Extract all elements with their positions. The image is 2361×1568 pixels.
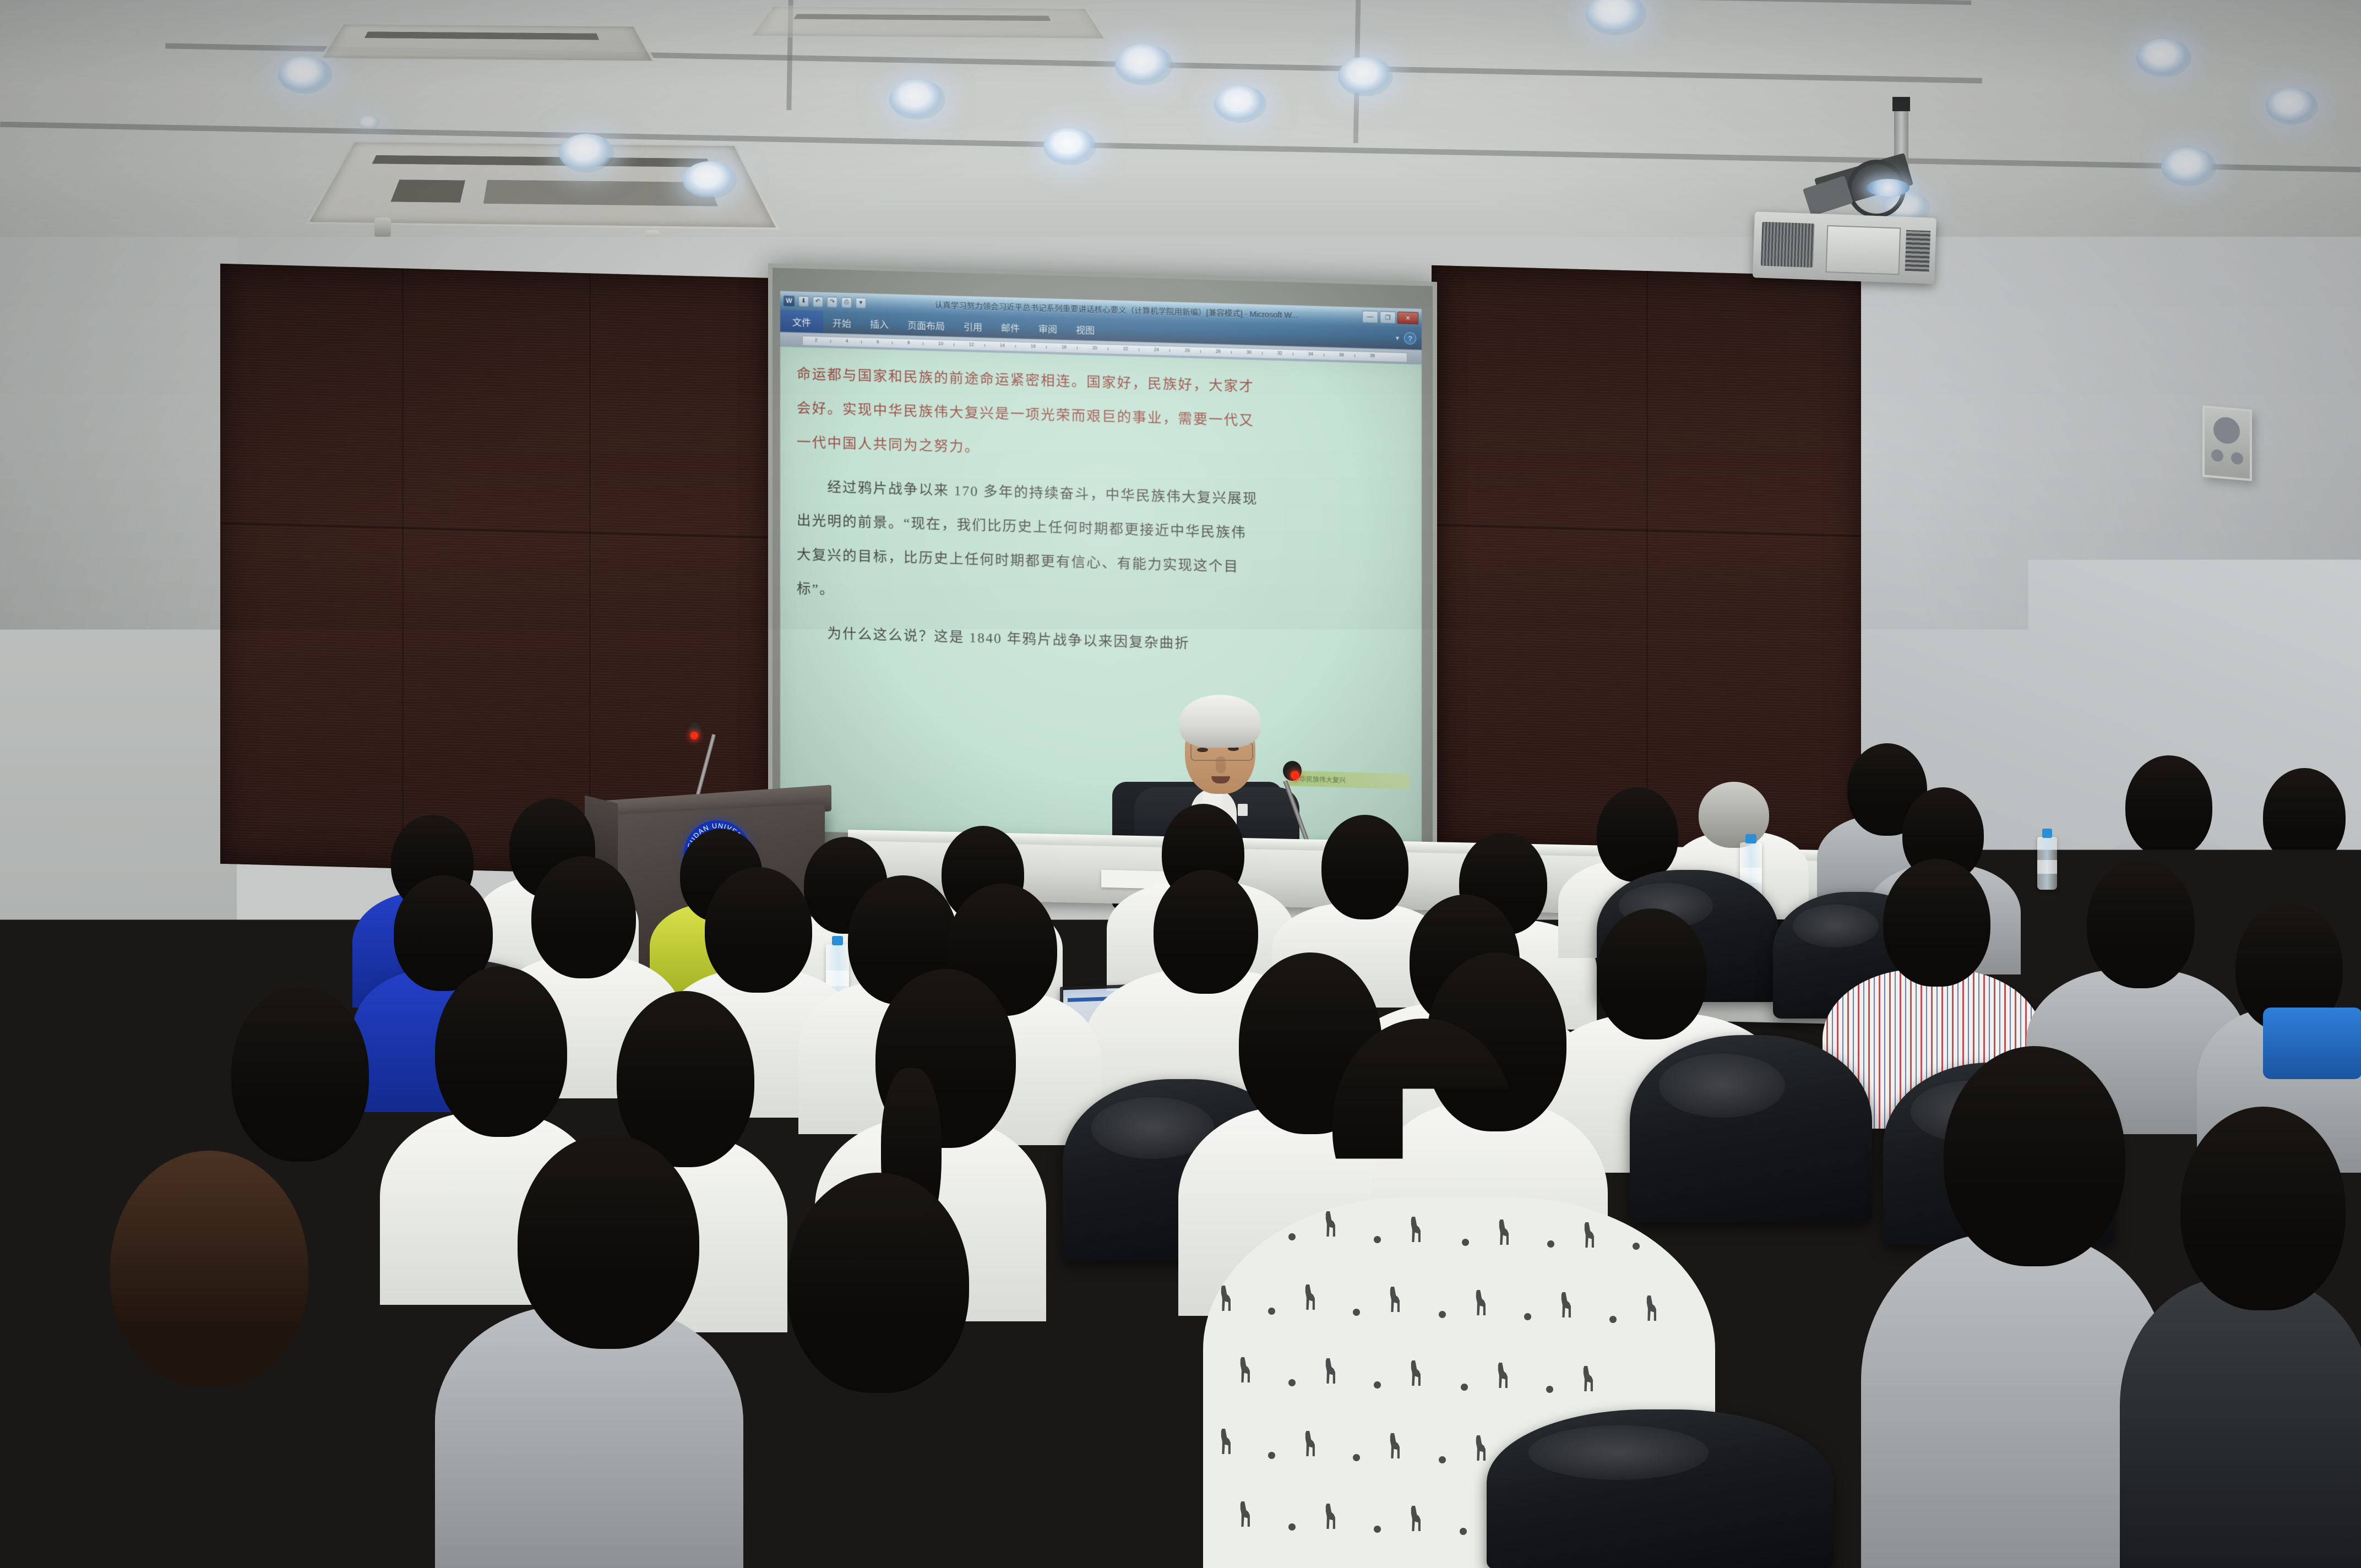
audience-head	[435, 966, 567, 1137]
ruler-tick: 38	[1370, 353, 1375, 358]
minimize-button[interactable]: —	[1362, 311, 1378, 323]
ceiling-downlight	[1043, 128, 1096, 165]
ruler-tick: 14	[1000, 343, 1005, 348]
word-window[interactable]: W ⬇ ↶ ↷ ⎙ ▾ 认真学习努力领会习近平总书记系列重要讲话核心要义（计算机…	[780, 291, 1422, 849]
ceiling-downlight	[1115, 44, 1173, 85]
ribbon-tab-page-layout[interactable]: 页面布局	[898, 313, 954, 337]
ceiling-downlight	[2266, 88, 2318, 124]
projector-ports	[1905, 230, 1931, 271]
audience-head-grey	[1699, 782, 1769, 848]
wall-speaker	[2202, 405, 2252, 481]
chair-back	[710, 1459, 1019, 1568]
blue-chair	[2263, 1008, 2361, 1079]
ceiling-downlight	[1586, 0, 1646, 35]
ruler-tick: 24	[1154, 347, 1159, 352]
audience-head	[1597, 787, 1678, 882]
audience-head	[2125, 755, 2212, 858]
audience-bun	[1432, 1145, 1514, 1272]
audience-head	[1154, 870, 1258, 994]
ac-vent	[749, 6, 1108, 40]
ribbon-tab-view[interactable]: 视图	[1067, 318, 1104, 341]
ceiling-downlight	[559, 134, 614, 172]
ruler-tick: 2	[815, 337, 817, 342]
close-button[interactable]: ✕	[1397, 312, 1418, 324]
window-controls[interactable]: — ❐ ✕	[1362, 311, 1418, 324]
redo-icon[interactable]: ↷	[827, 297, 837, 308]
water-bottle	[2037, 837, 2057, 890]
text-highlight-label: 中华民族伟大复兴	[1288, 770, 1410, 790]
audience-giraffe-shirt-person	[0, 0, 512, 380]
lecture-hall-photo: W ⬇ ↶ ↷ ⎙ ▾ 认真学习努力领会习近平总书记系列重要讲话核心要义（计算机…	[0, 0, 2361, 1568]
audience-head	[2263, 768, 2346, 865]
projector-vent	[1761, 222, 1815, 268]
chair-back	[1487, 1409, 1834, 1568]
audience-head	[787, 1173, 969, 1393]
chair-back	[1630, 1035, 1872, 1222]
ceiling-downlight	[2161, 148, 2216, 186]
audience-head	[1944, 1046, 2125, 1266]
table-mic-led	[1291, 771, 1299, 780]
speaker-mouth	[1211, 776, 1230, 783]
audience-head	[705, 867, 812, 993]
chevron-down-icon[interactable]: ▾	[1396, 334, 1399, 342]
podium-mic-led	[690, 732, 698, 739]
maximize-button[interactable]: ❐	[1380, 311, 1396, 324]
audience-head	[1321, 815, 1408, 919]
wood-wall-panel-right	[1432, 265, 1861, 860]
undo-icon[interactable]: ↶	[813, 296, 823, 307]
projector-body	[1753, 211, 1936, 284]
audience-head	[531, 856, 636, 978]
ruler-tick: 34	[1308, 351, 1313, 356]
save-icon[interactable]: ⬇	[798, 296, 809, 307]
projection-screen: W ⬇ ↶ ↷ ⎙ ▾ 认真学习努力领会习近平总书记系列重要讲话核心要义（计算机…	[768, 263, 1437, 865]
ruler-tick: 26	[1185, 348, 1190, 353]
word-logo-icon: W	[784, 295, 795, 306]
projector-pole-cap	[1892, 97, 1910, 111]
projection-screen-surface: W ⬇ ↶ ↷ ⎙ ▾ 认真学习努力领会习近平总书记系列重要讲话核心要义（计算机…	[773, 268, 1433, 861]
ruler-tick: 22	[1123, 346, 1128, 351]
ruler-tick: 8	[907, 340, 910, 345]
audience-head	[2180, 1107, 2346, 1310]
speaker-badge	[1238, 804, 1248, 816]
ribbon-tab-home[interactable]: 开始	[823, 311, 861, 334]
ruler-tick: 10	[938, 341, 943, 346]
ruler-tick: 12	[969, 342, 974, 347]
ceiling-downlight	[1338, 57, 1393, 96]
projector-lens	[1867, 179, 1910, 197]
ruler-tick: 36	[1339, 352, 1344, 357]
pen	[1811, 1254, 1922, 1261]
ruler-tick: 28	[1216, 349, 1221, 354]
ceiling-downlight	[683, 161, 737, 199]
audience-shoulders	[2120, 1277, 2361, 1568]
ruler-tick: 6	[877, 340, 879, 345]
customize-qat-icon[interactable]: ▾	[856, 297, 866, 308]
speaker-hair	[1179, 695, 1261, 748]
document-paragraph: 命运都与国家和民族的前途命运紧密相连。国家好，民族好，大家才 会好。实现中华民族…	[797, 357, 1405, 476]
audience-head	[518, 1134, 699, 1349]
ribbon-tab-mailings[interactable]: 邮件	[992, 315, 1029, 339]
ceiling-downlight	[2136, 39, 2191, 77]
audience-head	[231, 986, 369, 1162]
audience-head	[2087, 859, 2195, 988]
quick-access-toolbar[interactable]: W ⬇ ↶ ↷ ⎙ ▾	[784, 295, 871, 308]
speaker-nose	[1216, 756, 1226, 773]
ribbon-tab-review[interactable]: 审阅	[1029, 317, 1067, 340]
ruler-tick: 30	[1247, 350, 1252, 355]
ceiling-downlight	[889, 79, 945, 119]
water-bottle	[6, 991, 34, 1065]
audience-head	[1597, 908, 1707, 1039]
ruler-tick: 32	[1277, 351, 1282, 356]
ruler-tick: 20	[1092, 345, 1097, 350]
text-highlight-badge: 中华民族伟大复兴	[1288, 770, 1410, 789]
projector-panel	[1825, 225, 1901, 275]
ribbon-tab-insert[interactable]: 插入	[861, 312, 898, 335]
print-preview-icon[interactable]: ⎙	[841, 297, 852, 308]
ruler-tick: 16	[1031, 344, 1036, 349]
document-page[interactable]: 命运都与国家和民族的前途命运紧密相连。国家好，民族好，大家才 会好。实现中华民族…	[780, 347, 1422, 849]
document-line: 为什么这么说？这是 1840 年鸦片战争以来因复杂曲折	[797, 616, 1405, 667]
audience-head	[1883, 859, 1990, 987]
ceiling-beam	[650, 0, 1971, 5]
ruler-tick: 4	[846, 339, 848, 344]
document-paragraph: 经过鸦片战争以来 170 多年的持续奋斗，中华民族伟大复兴展现 出光明的前景。“…	[797, 469, 1405, 623]
ribbon-tab-references[interactable]: 引用	[954, 314, 992, 337]
water-bottle	[1723, 1269, 1762, 1365]
ribbon-tab-file[interactable]: 文件	[780, 310, 823, 333]
help-icon[interactable]: ?	[1404, 332, 1416, 345]
ceiling-downlight	[1214, 85, 1266, 123]
audience-head-long-hair	[110, 1151, 308, 1387]
document-paragraph: 为什么这么说？这是 1840 年鸦片战争以来因复杂曲折	[797, 616, 1405, 667]
ruler-tick: 18	[1062, 345, 1067, 350]
chair-back	[352, 1487, 705, 1568]
